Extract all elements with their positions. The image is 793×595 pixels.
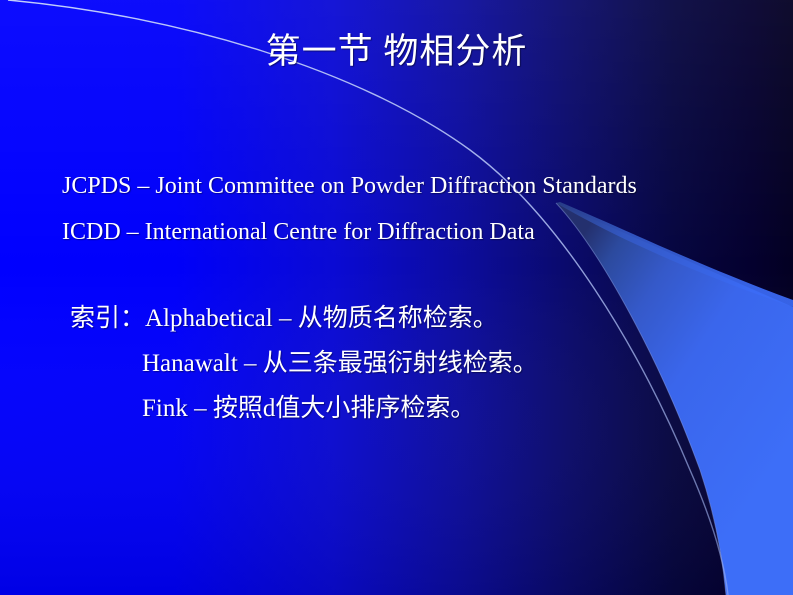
acronym-line-icdd: ICDD – International Centre for Diffract… [62, 209, 762, 255]
index-line-fink: Fink – 按照d值大小排序检索。 [70, 386, 770, 431]
slide-content: 第一节 物相分析 JCPDS – Joint Committee on Powd… [0, 0, 793, 595]
slide-title: 第一节 物相分析 [0, 30, 793, 74]
acronym-line-jcpds: JCPDS – Joint Committee on Powder Diffra… [62, 163, 762, 209]
index-line-alphabetical: 索引：Alphabetical – 从物质名称检索。 [70, 296, 770, 341]
index-list: 索引：Alphabetical – 从物质名称检索。 Hanawalt – 从三… [70, 296, 770, 431]
index-line-hanawalt: Hanawalt – 从三条最强衍射线检索。 [70, 341, 770, 386]
presentation-slide: 第一节 物相分析 JCPDS – Joint Committee on Powd… [0, 0, 793, 595]
acronym-list: JCPDS – Joint Committee on Powder Diffra… [62, 163, 762, 255]
